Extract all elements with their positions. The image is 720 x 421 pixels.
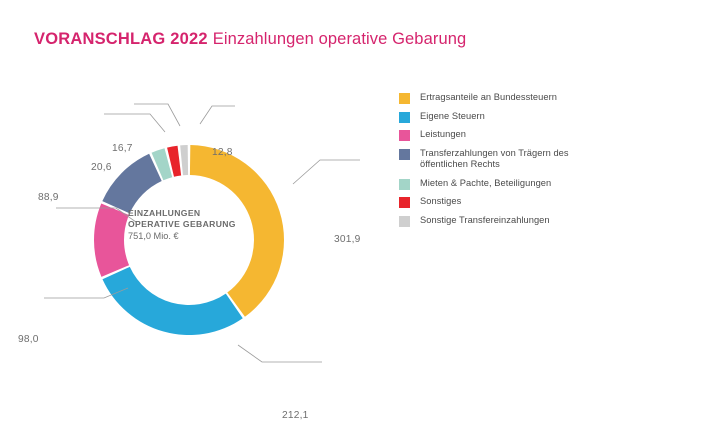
legend-item-label: Transferzahlungen von Trägern des öffent… [420,148,605,172]
donut-slice[interactable] [190,145,284,317]
value-callout: 301,9 [334,234,361,245]
legend-item-label: Leistungen [420,129,466,141]
legend-item[interactable]: Sonstige Transfereinzahlungen [399,215,699,227]
legend-color-swatch [399,179,410,190]
leader-line-1 [238,345,322,362]
value-callout: 12,8 [212,147,233,158]
leader-line-6 [200,106,235,124]
title-subtitle: Einzahlungen operative Gebarung [213,30,467,48]
chart-page: VORANSCHLAG 2022Einzahlungen operative G… [0,0,720,405]
legend-item[interactable]: Eigene Steuern [399,111,699,123]
legend-color-swatch [399,149,410,160]
legend-item[interactable]: Transferzahlungen von Trägern des öffent… [399,148,699,172]
legend-color-swatch [399,112,410,123]
legend-item[interactable]: Mieten & Pachte, Beteiligungen [399,178,699,190]
donut-slice[interactable] [102,267,242,335]
donut-chart: EINZAHLUNGEN OPERATIVE GEBARUNG 751,0 Mi… [0,62,400,392]
legend-item[interactable]: Leistungen [399,129,699,141]
legend-color-swatch [399,93,410,104]
donut-svg [0,62,400,392]
legend-color-swatch [399,216,410,227]
legend-item[interactable]: Sonstiges [399,196,699,208]
donut-slice[interactable] [94,204,129,277]
legend-item[interactable]: Ertragsanteile an Bundessteuern [399,92,699,104]
value-callout: 88,9 [38,192,59,203]
legend: Ertragsanteile an BundessteuernEigene St… [399,92,699,233]
legend-item-label: Ertragsanteile an Bundessteuern [420,92,557,104]
value-callout: 16,7 [112,143,133,154]
legend-item-label: Eigene Steuern [420,111,485,123]
legend-item-label: Sonstiges [420,196,461,208]
donut-slice[interactable] [180,145,188,175]
legend-item-label: Mieten & Pachte, Beteiligungen [420,178,551,190]
page-title: VORANSCHLAG 2022Einzahlungen operative G… [34,31,466,48]
leader-line-0 [293,160,360,184]
legend-color-swatch [399,197,410,208]
title-strong: VORANSCHLAG 2022 [34,30,208,48]
legend-color-swatch [399,130,410,141]
legend-item-label: Sonstige Transfereinzahlungen [420,215,550,227]
value-callout: 20,6 [91,162,112,173]
value-callout: 98,0 [18,334,39,345]
leader-line-4 [104,114,165,132]
donut-segments [94,145,284,335]
value-callout: 212,1 [282,410,309,421]
